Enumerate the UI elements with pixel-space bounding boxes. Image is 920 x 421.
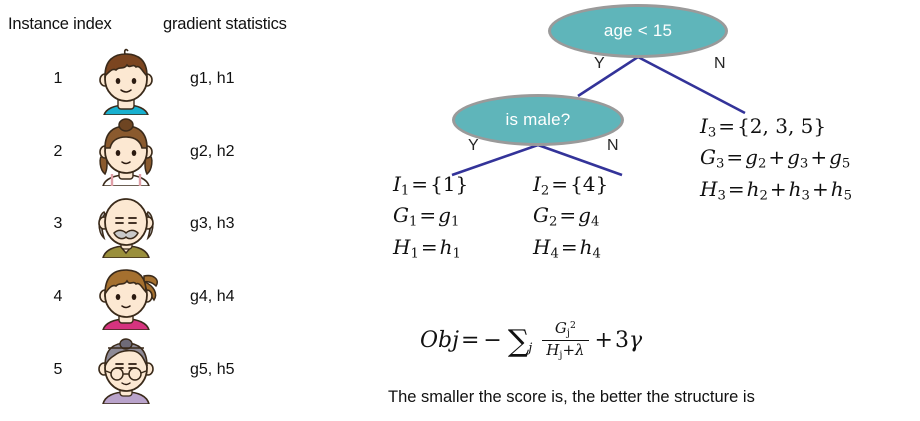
boy-avatar <box>88 47 164 115</box>
leaf-2-hessian-sum: H4=h4 <box>533 233 608 264</box>
leaf-3-instance-set: I3={2, 3, 5} <box>700 112 852 143</box>
fraction-denominator: Hj+λ <box>542 340 588 361</box>
leaf-3-statistics: I3={2, 3, 5} G3=g2+g3+g5 H3=h2+h3+h5 <box>700 112 852 206</box>
row-index-label: 2 <box>40 143 76 161</box>
objective-equals: = <box>459 328 481 353</box>
objective-minus-sign: − <box>481 328 503 353</box>
leaf-1-hessian-sum: H1=h1 <box>393 233 468 264</box>
leaf-3-hessian-sum: H3=h2+h3+h5 <box>700 175 852 206</box>
edge-label-root-no: N <box>714 55 726 73</box>
column-header-gradient-statistics: gradient statistics <box>163 15 287 34</box>
summation-icon: ∑ <box>504 324 530 359</box>
edge-root-yes <box>578 57 638 96</box>
tree-node-age-label: age < 15 <box>604 21 672 41</box>
caption-text: The smaller the score is, the better the… <box>388 388 755 407</box>
leaf-2-statistics: I2={4} G2=g4 H4=h4 <box>533 170 608 264</box>
tree-node-is-male-label: is male? <box>506 110 571 130</box>
old-woman-avatar <box>88 336 164 404</box>
edge-label-male-yes: Y <box>468 137 479 155</box>
row-index-label: 5 <box>40 361 76 379</box>
row-gradient-stats: g1, h1 <box>190 70 234 88</box>
young-woman-avatar <box>88 262 164 330</box>
girl-avatar <box>88 118 164 186</box>
edge-label-root-yes: Y <box>594 55 605 73</box>
leaf-3-gradient-sum: G3=g2+g3+g5 <box>700 143 852 174</box>
old-man-avatar <box>88 190 164 258</box>
objective-formula: Obj = − ∑ j Gj2 Hj+λ + 3γ <box>420 320 642 361</box>
edge-root-no <box>638 57 745 113</box>
leaf-1-instance-set: I1={1} <box>393 170 468 201</box>
objective-fraction: Gj2 Hj+λ <box>542 320 588 361</box>
gamma-coefficient: 3 <box>615 328 629 353</box>
row-gradient-stats: g5, h5 <box>190 361 234 379</box>
row-gradient-stats: g3, h3 <box>190 215 234 233</box>
gamma-symbol: γ <box>629 328 642 353</box>
row-index-label: 3 <box>40 215 76 233</box>
objective-plus-sign: + <box>593 328 615 353</box>
leaf-1-statistics: I1={1} G1=g1 H1=h1 <box>393 170 468 264</box>
row-index-label: 1 <box>40 70 76 88</box>
column-header-instance-index: Instance index <box>8 15 112 34</box>
edge-label-male-no: N <box>607 137 619 155</box>
leaf-2-gradient-sum: G2=g4 <box>533 201 608 232</box>
leaf-1-gradient-sum: G1=g1 <box>393 201 468 232</box>
row-index-label: 4 <box>40 288 76 306</box>
tree-node-age[interactable]: age < 15 <box>548 4 728 58</box>
row-gradient-stats: g4, h4 <box>190 288 234 306</box>
fraction-numerator: Gj2 <box>551 320 580 340</box>
leaf-2-instance-set: I2={4} <box>533 170 608 201</box>
summation-index: j <box>528 341 536 356</box>
slide-canvas: Instance index gradient statistics 1 <box>0 0 920 421</box>
objective-lhs: Obj <box>420 328 459 353</box>
row-gradient-stats: g2, h2 <box>190 143 234 161</box>
